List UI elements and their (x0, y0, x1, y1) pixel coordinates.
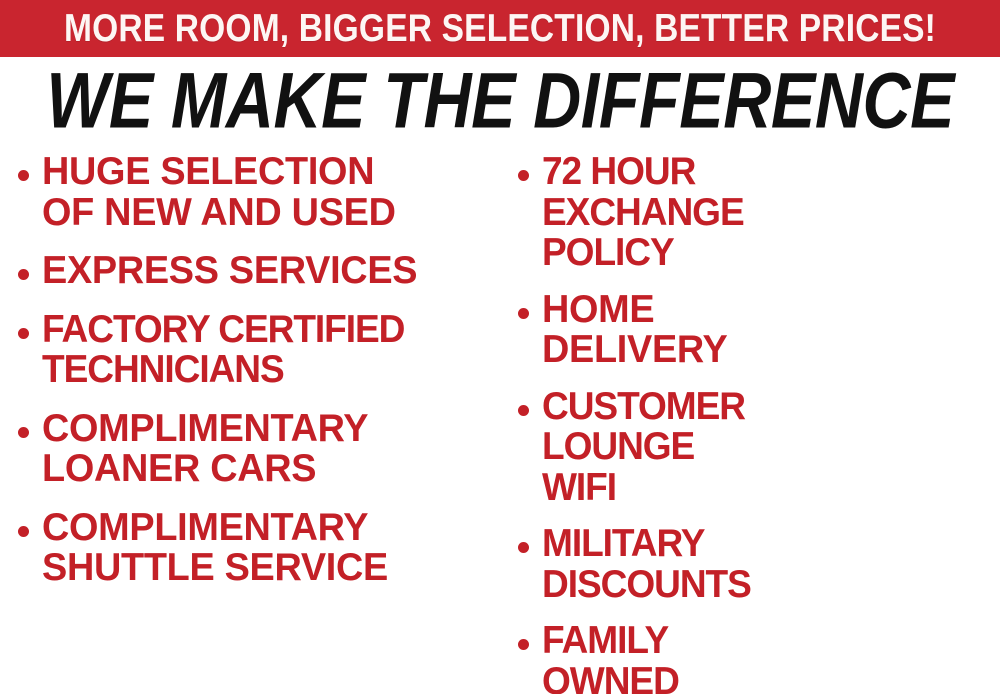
list-item-label: COMPLIMENTARY SHUTTLE SERVICE (42, 508, 388, 589)
list-item-label: HUGE SELECTION OF NEW AND USED (42, 152, 396, 233)
bullet-dot-icon (518, 542, 529, 553)
bullet-dot-icon (518, 170, 529, 181)
benefits-columns: HUGE SELECTION OF NEW AND USED EXPRESS S… (0, 152, 1000, 682)
list-item-label: 72 HOUR EXCHANGE POLICY (542, 152, 744, 274)
list-item-label: HOME DELIVERY (542, 290, 727, 371)
list-item-label: CUSTOMER LOUNGE WIFI (542, 387, 745, 509)
bullet-dot-icon (518, 639, 529, 650)
list-item-label: FAMILY OWNED AND OPERATED (542, 621, 737, 694)
page-title: WE MAKE THE DIFFERENCE (46, 62, 954, 140)
top-banner: MORE ROOM, BIGGER SELECTION, BETTER PRIC… (0, 0, 1000, 57)
bullet-dot-icon (518, 405, 529, 416)
list-item-label: MILITARY DISCOUNTS (542, 524, 751, 605)
promotional-poster: MORE ROOM, BIGGER SELECTION, BETTER PRIC… (0, 0, 1000, 694)
bullet-dot-icon (518, 308, 529, 319)
headline-container: WE MAKE THE DIFFERENCE (0, 62, 1000, 140)
top-banner-text: MORE ROOM, BIGGER SELECTION, BETTER PRIC… (64, 9, 936, 48)
list-item-label: FACTORY CERTIFIED TECHNICIANS (42, 310, 404, 391)
list-item-label: COMPLIMENTARY LOANER CARS (42, 409, 368, 490)
list-item-label: EXPRESS SERVICES (42, 251, 417, 292)
